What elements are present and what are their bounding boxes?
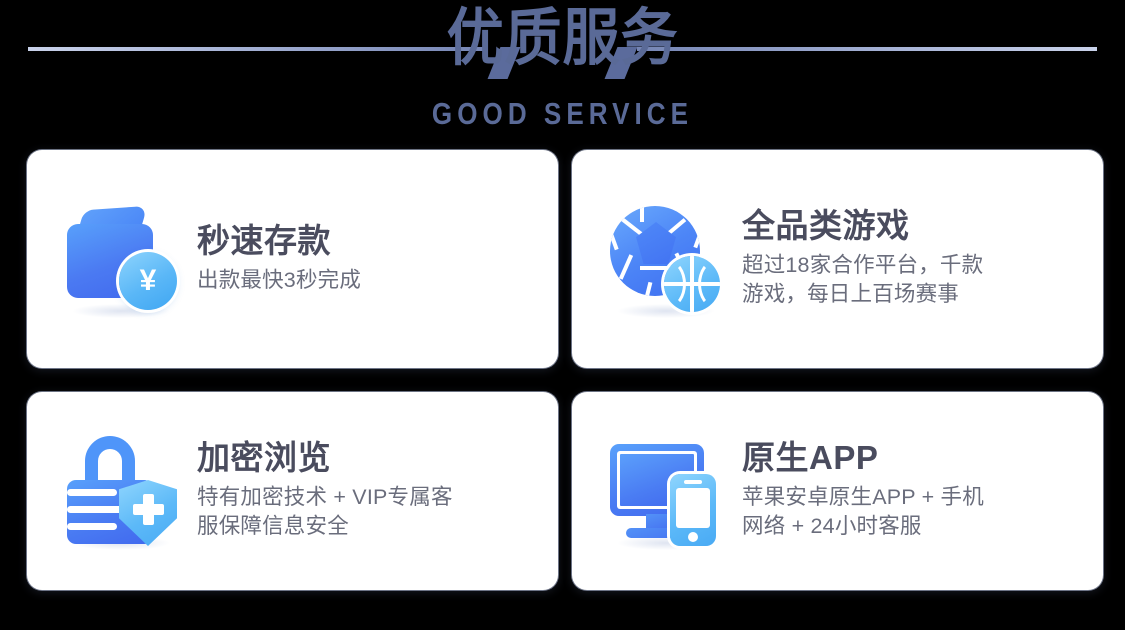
feature-card-fast-deposit[interactable]: ¥ 秒速存款 出款最快3秒完成 — [27, 150, 558, 368]
card-text-block: 原生APP 苹果安卓原生APP + 手机 网络 + 24小时客服 — [742, 440, 1004, 542]
phone-speaker — [684, 480, 702, 484]
yen-symbol-icon: ¥ — [119, 252, 177, 310]
yen-coin-icon: ¥ — [119, 252, 177, 310]
soccer-seam — [640, 206, 644, 222]
feature-card-encrypted-browsing[interactable]: 加密浏览 特有加密技术 + VIP专属客 服保障信息安全 — [27, 392, 558, 590]
smartphone-icon — [670, 474, 716, 546]
card-description: 苹果安卓原生APP + 手机 网络 + 24小时客服 — [742, 483, 984, 542]
card-description: 出款最快3秒完成 — [197, 266, 361, 296]
soccer-basketball-icon — [608, 200, 726, 318]
padlock-slot — [67, 489, 117, 496]
card-title: 加密浏览 — [197, 440, 453, 477]
card-description-line: 服保障信息安全 — [197, 512, 453, 542]
soccer-seam — [610, 234, 619, 250]
soccer-seam — [693, 232, 700, 248]
soccer-seam — [619, 254, 633, 279]
card-description-line: 特有加密技术 + VIP专属客 — [197, 483, 453, 513]
section-header: 优质服务 GOOD SERVICE — [0, 0, 1125, 140]
card-title: 原生APP — [742, 440, 984, 477]
monitor-phone-icon — [608, 432, 726, 550]
card-description: 超过18家合作平台，千款 游戏，每日上百场赛事 — [742, 251, 983, 310]
basketball-seam-arc-right — [698, 260, 720, 308]
wallet-yen-coin-icon: ¥ — [63, 200, 181, 318]
basketball-seam-arc-left — [664, 260, 686, 308]
card-text-block: 加密浏览 特有加密技术 + VIP专属客 服保障信息安全 — [197, 440, 473, 542]
card-description: 特有加密技术 + VIP专属客 服保障信息安全 — [197, 483, 453, 542]
phone-screen — [676, 488, 710, 528]
basketball-icon — [664, 256, 720, 312]
card-text-block: 全品类游戏 超过18家合作平台，千款 游戏，每日上百场赛事 — [742, 208, 1003, 310]
page-subtitle: GOOD SERVICE — [90, 98, 1035, 129]
card-text-block: 秒速存款 出款最快3秒完成 — [197, 223, 381, 296]
padlock-slot — [67, 523, 117, 530]
padlock-shield-icon — [63, 432, 181, 550]
card-description-line: 游戏，每日上百场赛事 — [742, 280, 983, 310]
card-title: 全品类游戏 — [742, 208, 983, 245]
feature-card-all-games[interactable]: 全品类游戏 超过18家合作平台，千款 游戏，每日上百场赛事 — [572, 150, 1103, 368]
feature-card-grid: ¥ 秒速存款 出款最快3秒完成 — [27, 150, 1098, 590]
feature-card-native-app[interactable]: 原生APP 苹果安卓原生APP + 手机 网络 + 24小时客服 — [572, 392, 1103, 590]
page-title: 优质服务 — [45, 8, 1080, 70]
card-description-line: 出款最快3秒完成 — [197, 266, 361, 296]
card-title: 秒速存款 — [197, 223, 361, 260]
card-description-line: 网络 + 24小时客服 — [742, 512, 984, 542]
phone-home-button — [688, 532, 698, 542]
card-description-line: 超过18家合作平台，千款 — [742, 251, 983, 281]
card-description-line: 苹果安卓原生APP + 手机 — [742, 483, 984, 513]
soccer-seam — [644, 282, 653, 296]
cross-icon — [133, 504, 164, 515]
